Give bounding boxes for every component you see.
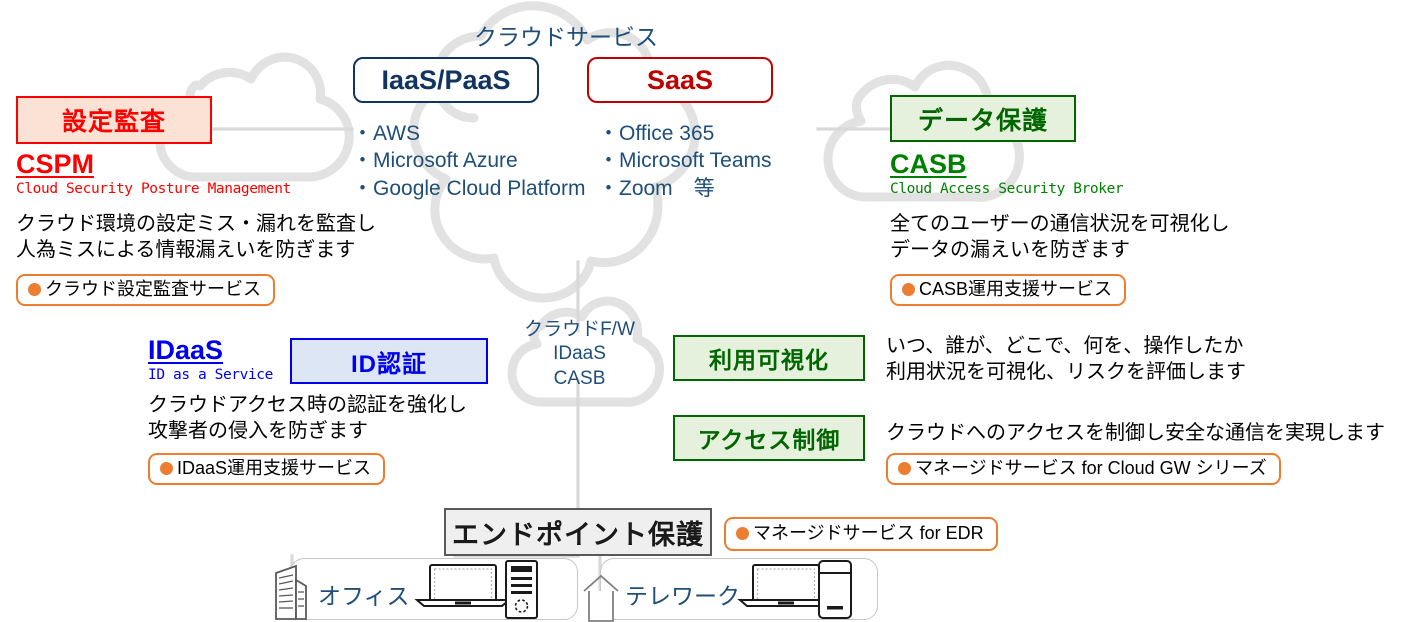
badge-label: マネージドサービス for Cloud GW シリーズ: [915, 459, 1267, 479]
chip-config-audit[interactable]: 設定監査: [16, 96, 212, 144]
visibility-desc-line-0: いつ、誰が、どこで、何を、操作したか: [886, 333, 1246, 359]
access-control-description: クラウドへのアクセスを制御し安全な通信を実現します: [886, 420, 1385, 446]
cspm-description: クラウド環境の設定ミス・漏れを監査し 人為ミスによる情報漏えいを防ぎます: [16, 211, 376, 264]
chip-endpoint-protection[interactable]: エンドポイント保護: [444, 508, 712, 556]
chip-saas[interactable]: SaaS: [587, 57, 773, 103]
saas-item-0: ・Office 365: [598, 120, 772, 147]
visibility-description: いつ、誰が、どこで、何を、操作したか 利用状況を可視化、リスクを評価します: [886, 333, 1246, 386]
visibility-desc-line-1: 利用状況を可視化、リスクを評価します: [886, 359, 1246, 385]
cloud-fw-line-0: クラウドF/W: [512, 318, 647, 342]
badge-label: IDaaS運用支援サービス: [177, 459, 371, 479]
chip-iaas-paas[interactable]: IaaS/PaaS: [353, 57, 539, 103]
bullet-dot-icon: [902, 283, 915, 296]
badge-cloud-config-audit-service[interactable]: クラウド設定監査サービス: [16, 274, 275, 306]
acronym-idaas: IDaaS ID as a Service: [148, 336, 273, 385]
iaas-item-2: ・Google Cloud Platform: [352, 175, 585, 202]
bullet-dot-icon: [28, 283, 41, 296]
badge-managed-service-edr[interactable]: マネージドサービス for EDR: [724, 517, 998, 551]
saas-item-1: ・Microsoft Teams: [598, 147, 772, 174]
site-label-office: オフィス: [318, 577, 410, 611]
badge-idaas-operation-service[interactable]: IDaaS運用支援サービス: [148, 453, 385, 485]
casb-desc-line-0: 全てのユーザーの通信状況を可視化し: [890, 211, 1230, 237]
idaas-full: ID as a Service: [148, 366, 273, 385]
badge-label: CASB運用支援サービス: [919, 280, 1112, 300]
badge-casb-operation-service[interactable]: CASB運用支援サービス: [890, 274, 1126, 306]
cloud-fw-line-2: CASB: [512, 367, 647, 391]
cloud-security-diagram: クラウドサービス IaaS/PaaS ・AWS ・Microsoft Azure…: [0, 0, 1412, 622]
bullet-dot-icon: [898, 462, 911, 475]
chip-usage-visualization[interactable]: 利用可視化: [673, 335, 865, 381]
cloud-fw-line-1: IDaaS: [512, 342, 647, 366]
acronym-casb: CASB Cloud Access Security Broker: [890, 150, 1123, 199]
badge-label: クラウド設定監査サービス: [45, 280, 261, 300]
acronym-cspm: CSPM Cloud Security Posture Management: [16, 150, 291, 199]
casb-abbr: CASB: [890, 150, 1123, 178]
cloud-fw-label: クラウドF/W IDaaS CASB: [512, 318, 647, 391]
bullet-dot-icon: [160, 462, 173, 475]
saas-item-2: ・Zoom 等: [598, 175, 772, 202]
idaas-desc-line-1: 攻撃者の侵入を防ぎます: [148, 418, 467, 444]
iaas-item-0: ・AWS: [352, 120, 585, 147]
access-control-desc-line-0: クラウドへのアクセスを制御し安全な通信を実現します: [886, 420, 1385, 446]
chip-access-control[interactable]: アクセス制御: [673, 415, 865, 461]
badge-managed-service-cloud-gw[interactable]: マネージドサービス for Cloud GW シリーズ: [886, 453, 1281, 485]
cspm-full: Cloud Security Posture Management: [16, 180, 291, 199]
chip-id-authentication[interactable]: ID認証: [290, 338, 488, 384]
cloud-service-title: クラウドサービス: [474, 18, 658, 52]
iaas-item-1: ・Microsoft Azure: [352, 147, 585, 174]
idaas-description: クラウドアクセス時の認証を強化し 攻撃者の侵入を防ぎます: [148, 392, 467, 445]
iaas-service-list: ・AWS ・Microsoft Azure ・Google Cloud Plat…: [352, 120, 585, 202]
chip-data-protection[interactable]: データ保護: [890, 95, 1076, 142]
bullet-dot-icon: [736, 527, 749, 540]
cspm-desc-line-0: クラウド環境の設定ミス・漏れを監査し: [16, 211, 376, 237]
idaas-desc-line-0: クラウドアクセス時の認証を強化し: [148, 392, 467, 418]
badge-label: マネージドサービス for EDR: [753, 524, 984, 544]
idaas-abbr: IDaaS: [148, 336, 273, 364]
cspm-desc-line-1: 人為ミスによる情報漏えいを防ぎます: [16, 237, 376, 263]
casb-desc-line-1: データの漏えいを防ぎます: [890, 237, 1230, 263]
casb-description: 全てのユーザーの通信状況を可視化し データの漏えいを防ぎます: [890, 211, 1230, 264]
cspm-abbr: CSPM: [16, 150, 291, 178]
saas-service-list: ・Office 365 ・Microsoft Teams ・Zoom 等: [598, 120, 772, 202]
site-label-telework: テレワーク: [625, 577, 740, 611]
casb-full: Cloud Access Security Broker: [890, 180, 1123, 199]
